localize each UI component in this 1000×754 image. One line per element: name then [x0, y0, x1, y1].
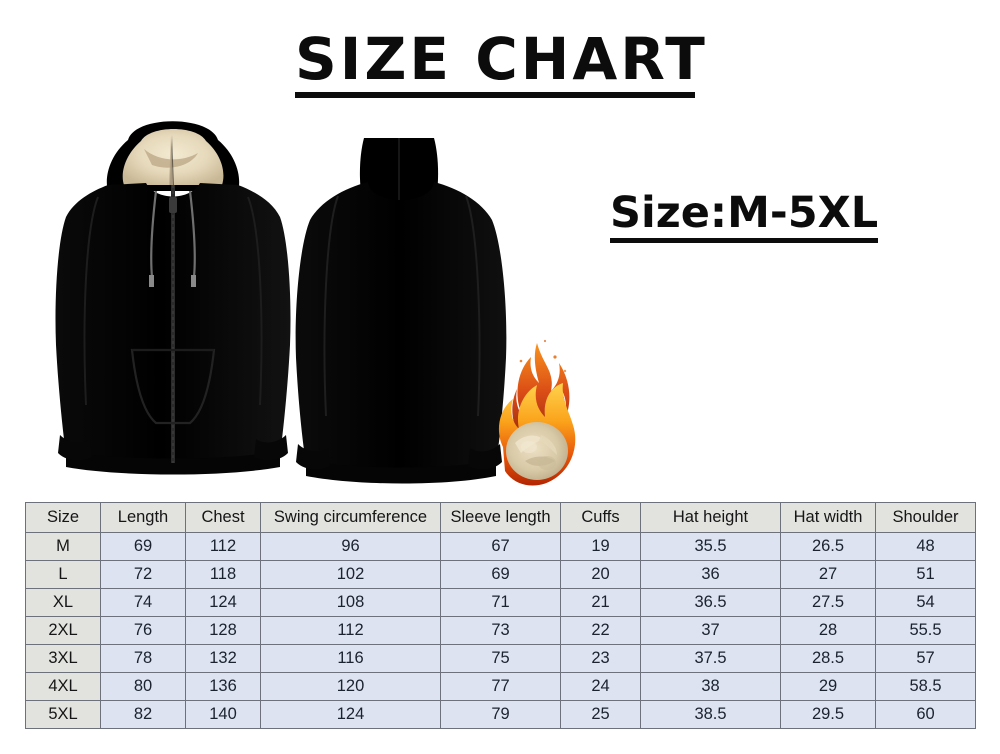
cell-shoulder: 57: [876, 645, 976, 673]
page-title: SIZE CHART: [295, 30, 695, 98]
cell-swing: 108: [261, 589, 441, 617]
cell-size: 5XL: [26, 701, 101, 729]
cell-hat-height: 37.5: [641, 645, 781, 673]
cell-shoulder: 54: [876, 589, 976, 617]
cell-swing: 96: [261, 533, 441, 561]
table-row: XL 74 124 108 71 21 36.5 27.5 54: [26, 589, 976, 617]
cell-shoulder: 58.5: [876, 673, 976, 701]
cell-hat-width: 26.5: [781, 533, 876, 561]
size-range-label-text: Size:M-5XL: [610, 190, 878, 236]
cell-length: 69: [101, 533, 186, 561]
table-row: 5XL 82 140 124 79 25 38.5 29.5 60: [26, 701, 976, 729]
cell-swing: 120: [261, 673, 441, 701]
cell-cuffs: 22: [561, 617, 641, 645]
cell-length: 80: [101, 673, 186, 701]
cell-sleeve: 75: [441, 645, 561, 673]
cell-length: 72: [101, 561, 186, 589]
cell-hat-width: 28.5: [781, 645, 876, 673]
fleece-fire-badge: [485, 335, 590, 500]
cell-hat-height: 36: [641, 561, 781, 589]
cell-sleeve: 77: [441, 673, 561, 701]
cell-shoulder: 60: [876, 701, 976, 729]
column-header-length: Length: [101, 503, 186, 533]
cell-length: 78: [101, 645, 186, 673]
page-title-text: SIZE CHART: [295, 30, 695, 88]
column-header-shoulder: Shoulder: [876, 503, 976, 533]
cell-swing: 124: [261, 701, 441, 729]
table-row: 4XL 80 136 120 77 24 38 29 58.5: [26, 673, 976, 701]
cell-length: 74: [101, 589, 186, 617]
cell-sleeve: 79: [441, 701, 561, 729]
cell-cuffs: 23: [561, 645, 641, 673]
cell-swing: 116: [261, 645, 441, 673]
column-header-cuffs: Cuffs: [561, 503, 641, 533]
cell-hat-height: 38.5: [641, 701, 781, 729]
cell-hat-height: 36.5: [641, 589, 781, 617]
cell-size: XL: [26, 589, 101, 617]
cell-hat-height: 38: [641, 673, 781, 701]
cell-shoulder: 48: [876, 533, 976, 561]
table-row: L 72 118 102 69 20 36 27 51: [26, 561, 976, 589]
cell-chest: 132: [186, 645, 261, 673]
cell-sleeve: 71: [441, 589, 561, 617]
size-chart-table: Size Length Chest Swing circumference Sl…: [25, 502, 976, 729]
cell-swing: 102: [261, 561, 441, 589]
cell-shoulder: 51: [876, 561, 976, 589]
cell-cuffs: 19: [561, 533, 641, 561]
table-row: 3XL 78 132 116 75 23 37.5 28.5 57: [26, 645, 976, 673]
column-header-swing: Swing circumference: [261, 503, 441, 533]
cell-hat-height: 37: [641, 617, 781, 645]
cell-size: M: [26, 533, 101, 561]
cell-chest: 118: [186, 561, 261, 589]
size-range-label: Size:M-5XL: [610, 190, 878, 243]
cell-hat-width: 29: [781, 673, 876, 701]
cell-sleeve: 67: [441, 533, 561, 561]
cell-cuffs: 21: [561, 589, 641, 617]
cell-hat-width: 29.5: [781, 701, 876, 729]
column-header-size: Size: [26, 503, 101, 533]
table-row: M 69 112 96 67 19 35.5 26.5 48: [26, 533, 976, 561]
cell-hat-width: 27.5: [781, 589, 876, 617]
cell-swing: 112: [261, 617, 441, 645]
cell-sleeve: 69: [441, 561, 561, 589]
size-chart-table-wrapper: Size Length Chest Swing circumference Sl…: [25, 502, 975, 729]
cell-chest: 124: [186, 589, 261, 617]
cell-chest: 128: [186, 617, 261, 645]
cell-size: 3XL: [26, 645, 101, 673]
cell-length: 76: [101, 617, 186, 645]
column-header-hat-width: Hat width: [781, 503, 876, 533]
column-header-chest: Chest: [186, 503, 261, 533]
cell-cuffs: 24: [561, 673, 641, 701]
hoodie-front-image: [40, 105, 305, 490]
cell-chest: 140: [186, 701, 261, 729]
column-header-hat-height: Hat height: [641, 503, 781, 533]
cell-size: L: [26, 561, 101, 589]
table-header-row: Size Length Chest Swing circumference Sl…: [26, 503, 976, 533]
cell-chest: 136: [186, 673, 261, 701]
cell-size: 2XL: [26, 617, 101, 645]
cell-hat-width: 28: [781, 617, 876, 645]
cell-shoulder: 55.5: [876, 617, 976, 645]
cell-cuffs: 20: [561, 561, 641, 589]
cell-hat-width: 27: [781, 561, 876, 589]
cell-cuffs: 25: [561, 701, 641, 729]
size-range-label-underline: [610, 238, 878, 243]
cell-sleeve: 73: [441, 617, 561, 645]
cell-hat-height: 35.5: [641, 533, 781, 561]
table-row: 2XL 76 128 112 73 22 37 28 55.5: [26, 617, 976, 645]
column-header-sleeve: Sleeve length: [441, 503, 561, 533]
cell-chest: 112: [186, 533, 261, 561]
cell-size: 4XL: [26, 673, 101, 701]
cell-length: 82: [101, 701, 186, 729]
